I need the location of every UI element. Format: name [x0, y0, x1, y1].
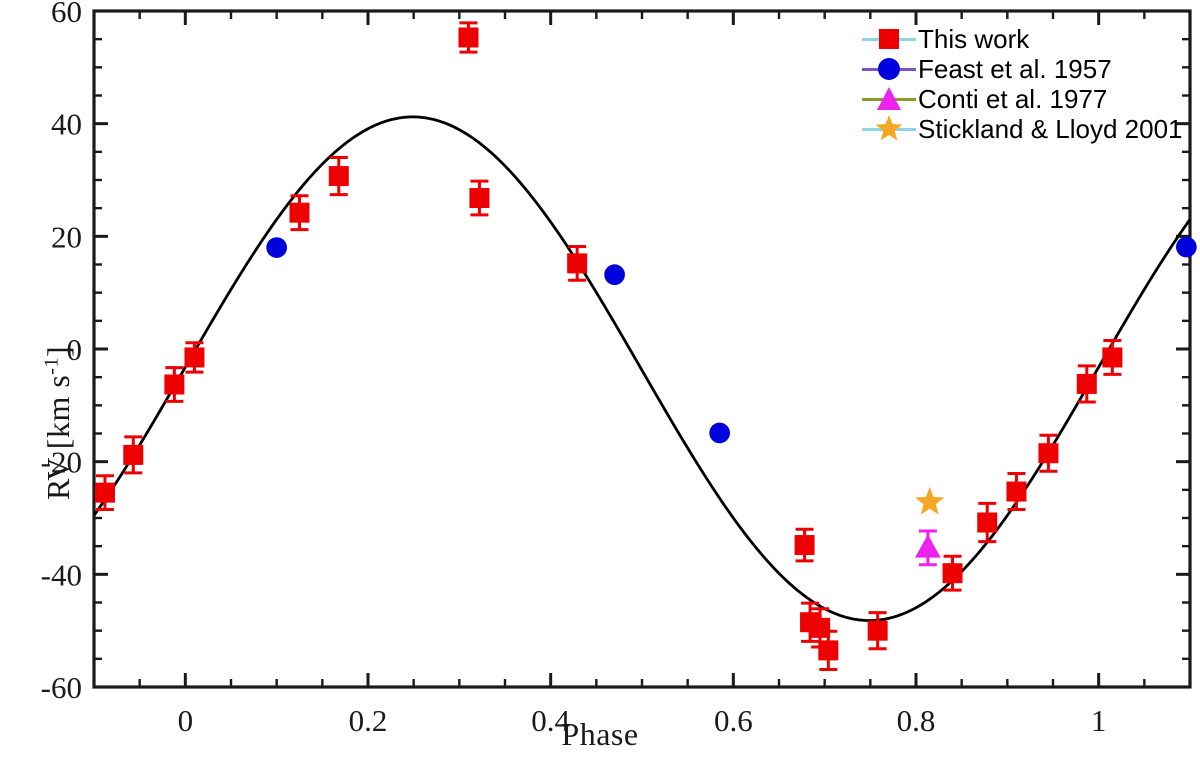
marker-square	[329, 166, 349, 186]
marker-square	[1038, 443, 1058, 463]
radial-velocity-phase-plot: 00.20.40.60.816040200-20-40-60 Phase RV …	[0, 0, 1200, 759]
marker-square	[977, 513, 997, 533]
marker-circle	[878, 58, 900, 80]
legend-item-this-work[interactable]: This work	[862, 24, 1183, 54]
y-tick-label: -60	[41, 670, 82, 705]
y-tick-label: -40	[41, 557, 82, 592]
marker-square	[164, 374, 184, 394]
marker-square	[95, 483, 115, 503]
marker-triangle	[915, 534, 941, 557]
marker-circle	[709, 423, 730, 444]
marker-square	[818, 640, 838, 660]
marker-star	[876, 115, 903, 140]
legend-symbol	[862, 84, 916, 114]
marker-square	[795, 535, 815, 555]
marker-square	[1102, 347, 1122, 367]
y-tick-label: 60	[51, 0, 82, 29]
y-tick-label: 40	[51, 107, 82, 142]
y-tick-label: 20	[51, 219, 82, 254]
marker-circle	[604, 264, 625, 285]
y-axis-title-bracket: ]	[40, 346, 76, 357]
marker-circle	[1176, 237, 1197, 258]
legend-item-label: Conti et al. 1977	[916, 86, 1107, 112]
legend: This workFeast et al. 1957Conti et al. 1…	[862, 24, 1183, 144]
marker-square	[868, 621, 888, 641]
marker-square	[567, 253, 587, 273]
legend-item-feast-et-al-1957[interactable]: Feast et al. 1957	[862, 54, 1183, 84]
series-stickland-lloyd-2001	[915, 487, 944, 515]
legend-marker-square-icon	[874, 24, 904, 54]
marker-square	[184, 347, 204, 367]
marker-square	[879, 29, 899, 49]
marker-square	[943, 563, 963, 583]
x-axis-title: Phase	[0, 716, 1200, 753]
marker-square	[458, 27, 478, 47]
legend-symbol	[862, 24, 916, 54]
marker-triangle	[877, 87, 901, 110]
series-feast-et-al-1957	[266, 237, 1196, 444]
y-axis-title-main: RV [km s	[40, 375, 76, 500]
legend-symbol	[862, 114, 916, 144]
marker-square	[290, 203, 310, 223]
marker-star	[915, 487, 944, 515]
marker-square	[123, 445, 143, 465]
series-conti-et-al-1977	[915, 531, 941, 565]
legend-marker-triangle-icon	[874, 84, 904, 114]
legend-item-label: This work	[916, 26, 1029, 52]
legend-marker-circle-icon	[874, 54, 904, 84]
legend-item-stickland-lloyd-2001[interactable]: Stickland & Lloyd 2001	[862, 114, 1183, 144]
fit-curve	[94, 117, 1190, 621]
marker-square	[1006, 482, 1026, 502]
marker-square	[469, 188, 489, 208]
marker-circle	[266, 237, 287, 258]
y-axis-title: RV [km s-1]	[40, 346, 77, 500]
legend-item-label: Stickland & Lloyd 2001	[916, 116, 1183, 142]
y-axis-title-exponent: -1	[40, 357, 62, 375]
legend-symbol	[862, 54, 916, 84]
legend-item-conti-et-al-1977[interactable]: Conti et al. 1977	[862, 84, 1183, 114]
legend-marker-star-icon	[874, 114, 904, 144]
legend-item-label: Feast et al. 1957	[916, 56, 1112, 82]
marker-square	[1077, 374, 1097, 394]
